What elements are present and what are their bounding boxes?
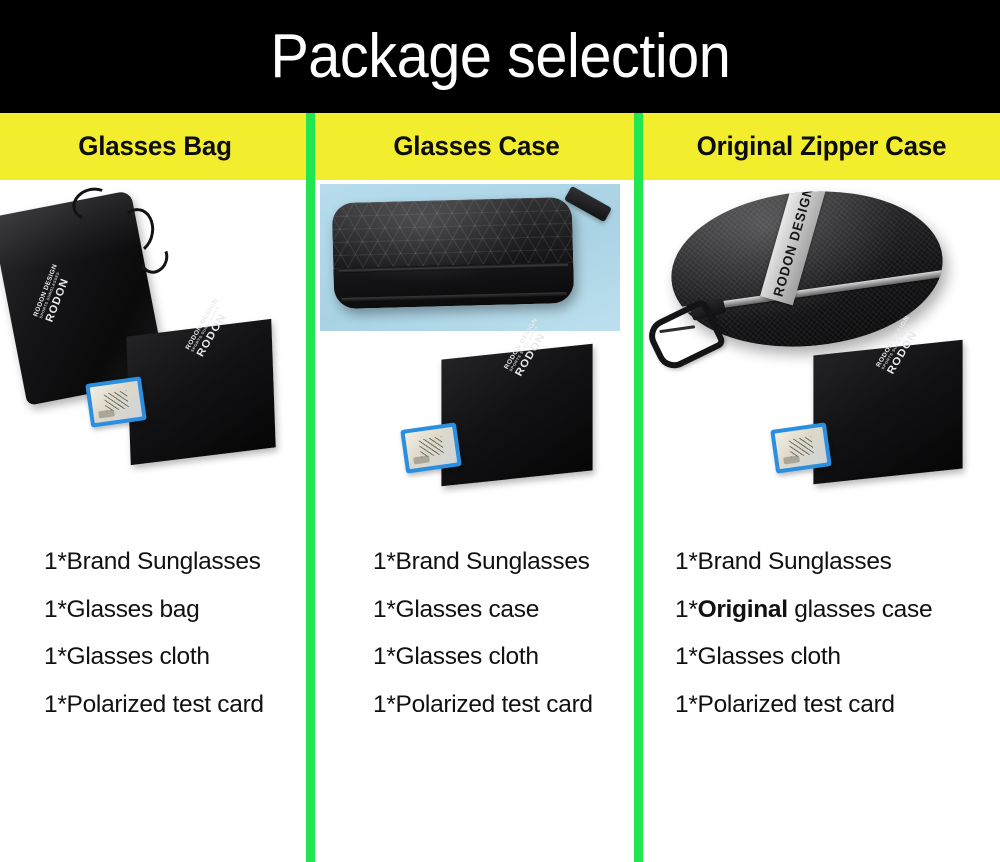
hard-shell-case-icon [332,197,575,309]
list-item: 1*Polarized test card [44,693,350,718]
list-item: 1*Polarized test card [675,693,1000,718]
polarized-test-card-icon [400,422,462,473]
product-photo-original-zipper-case: RODON DESIGN RODON DESIGN SPORTS SUNGLAS… [643,180,1000,525]
list-item-suffix: glasses case [788,596,933,623]
column-glasses-case: RODON DESIGN SPORTS SUNGLASSES RODON 1*B… [315,180,634,862]
list-item-original-case: 1*Original glasses case [675,598,1000,623]
column-header-glasses-bag: Glasses Bag [6,113,304,180]
test-card-image [405,427,458,469]
package-contents-original-zipper-case: 1*Brand Sunglasses 1*Original glasses ca… [643,550,1000,740]
polarized-test-card-icon [85,376,147,427]
product-photo-glasses-bag: RODON DESIGN SPORTS SUNGLASSES RODON ROD… [0,180,306,525]
list-item: 1*Glasses bag [44,598,350,623]
case-lip [341,292,567,302]
cleaning-cloth-icon: RODON DESIGN SPORTS SUNGLASSES RODON [126,319,275,465]
test-card-image [775,427,828,469]
list-item: 1*Brand Sunglasses [44,550,350,575]
page-title: Package selection [270,26,730,88]
list-item-prefix: 1* [675,596,698,623]
cleaning-cloth-icon: RODON DESIGN SPORTS SUNGLASSES RODON [441,344,592,487]
list-item-emphasis: Original [698,596,788,623]
column-divider-right [634,113,643,862]
package-contents-glasses-case: 1*Brand Sunglasses 1*Glasses case 1*Glas… [315,550,692,740]
column-header-original-zipper-case: Original Zipper Case [650,113,993,180]
test-card-image [90,381,143,423]
column-original-zipper-case: RODON DESIGN RODON DESIGN SPORTS SUNGLAS… [643,180,1000,862]
list-item: 1*Glasses cloth [44,645,350,670]
list-item: 1*Brand Sunglasses [675,550,1000,575]
column-header-band: Glasses Bag Glasses Case Original Zipper… [0,113,1000,180]
column-glasses-bag: RODON DESIGN SPORTS SUNGLASSES RODON ROD… [0,180,306,862]
cloth-brand-mark: RODON DESIGN SPORTS SUNGLASSES RODON [185,298,235,359]
hexagon-texture [332,197,574,269]
list-item: 1*Glasses cloth [675,645,1000,670]
column-divider-left [306,113,315,862]
package-selection-infographic: Package selection Glasses Bag Glasses Ca… [0,0,1000,862]
column-header-glasses-case: Glasses Case [321,113,631,180]
product-photo-glasses-case: RODON DESIGN SPORTS SUNGLASSES RODON [315,180,634,525]
title-banner: Package selection [0,0,1000,113]
cleaning-cloth-icon: RODON DESIGN SPORTS SUNGLASSES RODON [813,340,962,484]
pouch-brand-mark: RODON DESIGN SPORTS SUNGLASSES RODON [32,263,75,324]
package-contents-glasses-bag: 1*Brand Sunglasses 1*Glasses bag 1*Glass… [0,550,350,740]
polarized-test-card-icon [770,422,832,473]
